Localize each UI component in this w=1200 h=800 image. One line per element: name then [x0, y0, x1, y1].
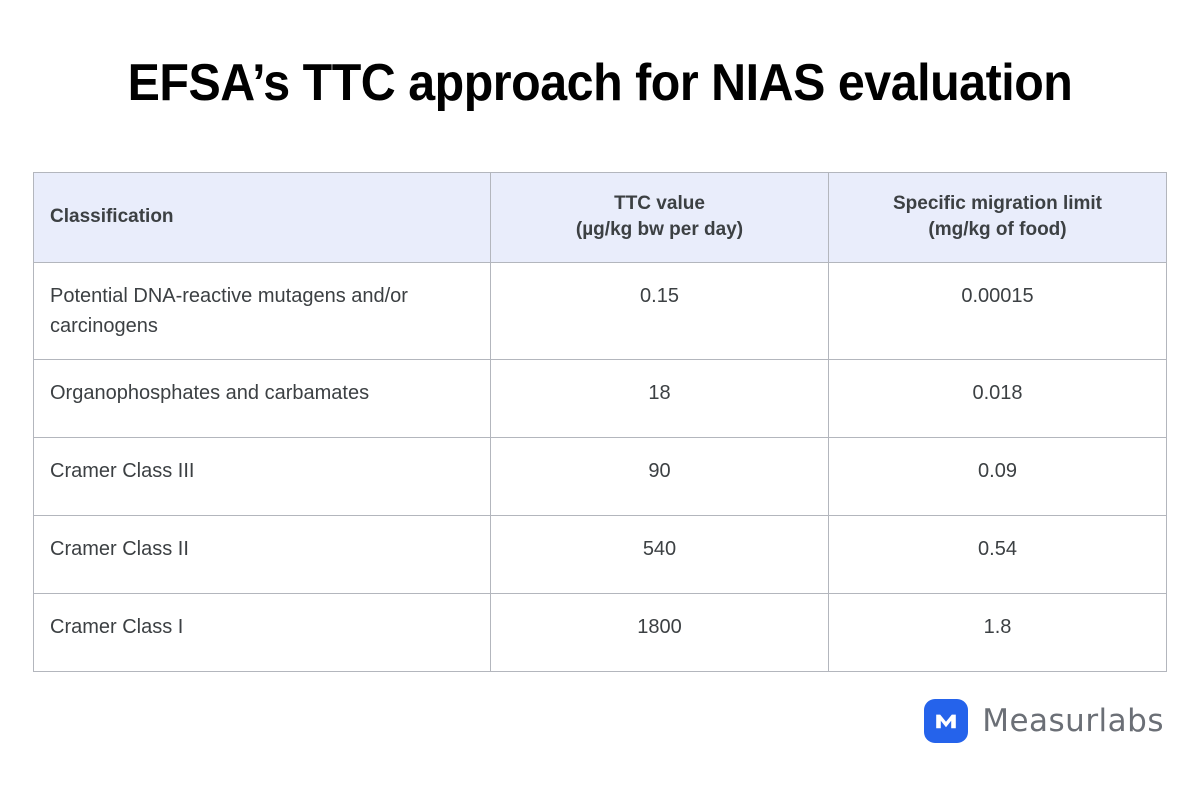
table-row: Cramer Class II 540 0.54 [34, 516, 1167, 594]
brand-logo: Measurlabs [924, 699, 1164, 743]
cell-migration-limit: 0.54 [829, 516, 1167, 594]
cell-classification: Cramer Class III [34, 438, 491, 516]
cell-migration-limit: 0.09 [829, 438, 1167, 516]
brand-name: Measurlabs [982, 703, 1164, 739]
column-header-migration-limit-line2: (mg/kg of food) [845, 217, 1150, 243]
cell-ttc-value: 18 [491, 360, 829, 438]
ttc-table-container: Classification TTC value (µg/kg bw per d… [33, 172, 1166, 672]
slide-canvas: EFSA’s TTC approach for NIAS evaluation … [0, 0, 1200, 800]
cell-migration-limit: 0.00015 [829, 263, 1167, 360]
table-row: Cramer Class III 90 0.09 [34, 438, 1167, 516]
table-row: Potential DNA-reactive mutagens and/or c… [34, 263, 1167, 360]
table-header: Classification TTC value (µg/kg bw per d… [34, 173, 1167, 263]
cell-ttc-value: 0.15 [491, 263, 829, 360]
column-header-ttc-value: TTC value (µg/kg bw per day) [491, 173, 829, 263]
column-header-ttc-value-line2: (µg/kg bw per day) [507, 217, 812, 243]
table-body: Potential DNA-reactive mutagens and/or c… [34, 263, 1167, 672]
cell-ttc-value: 540 [491, 516, 829, 594]
ttc-table: Classification TTC value (µg/kg bw per d… [33, 172, 1167, 672]
column-header-classification-line1: Classification [50, 204, 474, 230]
column-header-classification: Classification [34, 173, 491, 263]
cell-ttc-value: 90 [491, 438, 829, 516]
table-row: Organophosphates and carbamates 18 0.018 [34, 360, 1167, 438]
cell-migration-limit: 0.018 [829, 360, 1167, 438]
column-header-ttc-value-line1: TTC value [507, 191, 812, 217]
table-header-row: Classification TTC value (µg/kg bw per d… [34, 173, 1167, 263]
cell-classification: Potential DNA-reactive mutagens and/or c… [34, 263, 491, 360]
page-title: EFSA’s TTC approach for NIAS evaluation [42, 52, 1158, 114]
cell-ttc-value: 1800 [491, 594, 829, 672]
cell-migration-limit: 1.8 [829, 594, 1167, 672]
table-row: Cramer Class I 1800 1.8 [34, 594, 1167, 672]
column-header-migration-limit-line1: Specific migration limit [845, 191, 1150, 217]
cell-classification: Cramer Class I [34, 594, 491, 672]
cell-classification: Cramer Class II [34, 516, 491, 594]
measurlabs-m-logo-icon [924, 699, 968, 743]
column-header-migration-limit: Specific migration limit (mg/kg of food) [829, 173, 1167, 263]
cell-classification: Organophosphates and carbamates [34, 360, 491, 438]
